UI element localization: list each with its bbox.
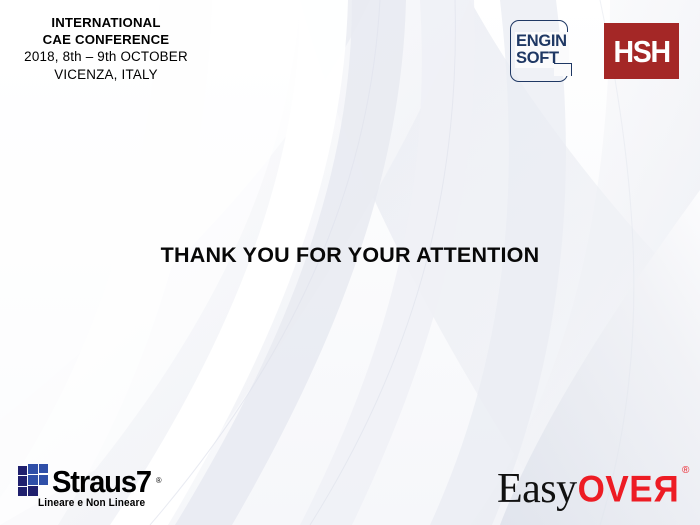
enginsoft-logo-notch xyxy=(554,63,572,76)
easyover-over-prefix: OVE xyxy=(578,469,653,510)
conference-header-line-4: VICENZA, ITALY xyxy=(8,66,204,83)
straus7-logo: Straus7 ® Lineare e Non Lineare xyxy=(18,464,157,509)
enginsoft-logo: ENGIN SOFT xyxy=(509,19,577,85)
presentation-slide: INTERNATIONAL CAE CONFERENCE 2018, 8th –… xyxy=(0,0,700,525)
straus7-registered-mark: ® xyxy=(156,466,160,495)
easyover-easy-text: Easy xyxy=(497,468,577,510)
page-title: THANK YOU FOR YOUR ATTENTION xyxy=(0,243,700,268)
easyover-over-text: OVER ® xyxy=(578,471,679,508)
conference-header-line-1: INTERNATIONAL xyxy=(8,14,204,31)
conference-header-line-3: 2018, 8th – 9th OCTOBER xyxy=(8,48,204,65)
straus7-wordmark-text: Straus7 xyxy=(52,464,151,499)
easyover-logo: Easy OVER ® xyxy=(497,468,679,510)
straus7-wordmark: Straus7 ® xyxy=(52,467,151,496)
straus7-tagline: Lineare e Non Lineare xyxy=(38,497,151,509)
straus7-squares-icon xyxy=(18,464,50,495)
conference-header: INTERNATIONAL CAE CONFERENCE 2018, 8th –… xyxy=(8,14,204,83)
conference-header-line-2: CAE CONFERENCE xyxy=(8,31,204,48)
hsh-logo-wordmark: HSH xyxy=(613,36,669,67)
easyover-over-mirrored-r: R xyxy=(653,471,679,508)
enginsoft-logo-line-1: ENGIN xyxy=(516,33,567,50)
easyover-registered-mark: ® xyxy=(682,453,690,488)
hsh-logo: HSH xyxy=(604,23,679,79)
straus7-logo-row: Straus7 ® xyxy=(18,464,157,496)
